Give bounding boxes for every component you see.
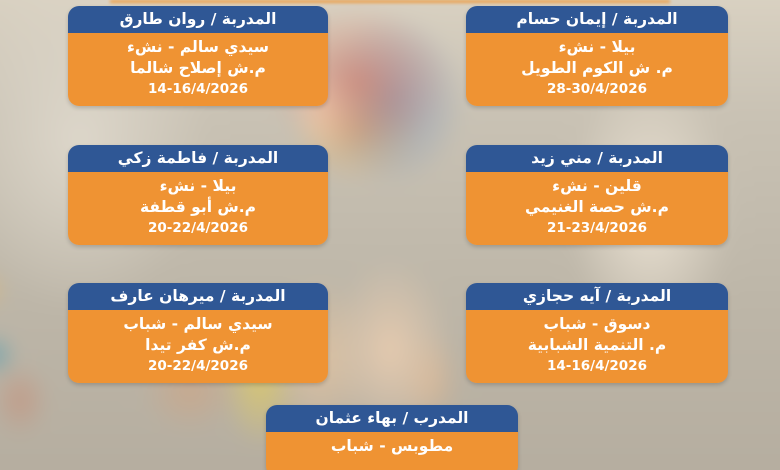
session-date: 28-30/4/2026 (472, 79, 722, 99)
session-venue: م.ش إصلاح شالما (74, 58, 322, 79)
trainer-name-header: المدرب / بهاء عثمان (266, 405, 518, 432)
trainer-name-header: المدربة / مني زيد (466, 145, 728, 172)
trainer-card[interactable]: المدربة / روان طارق سيدي سالم - نشء م.ش … (68, 6, 328, 106)
session-location: سيدي سالم - نشء (74, 37, 322, 58)
trainer-card-body: قلين - نشء م.ش حصة الغنيمي 21-23/4/2026 (466, 172, 728, 245)
trainer-card[interactable]: المدربة / ميرهان عارف سيدي سالم - شباب م… (68, 283, 328, 383)
trainer-card[interactable]: المدربة / آيه حجازي دسوق - شباب م. التنم… (466, 283, 728, 383)
trainer-name-header: المدربة / إيمان حسام (466, 6, 728, 33)
trainer-name-header: المدربة / فاطمة زكي (68, 145, 328, 172)
session-location: سيدي سالم - شباب (74, 314, 322, 335)
trainer-name-header: المدربة / ميرهان عارف (68, 283, 328, 310)
session-date: 20-22/4/2026 (74, 218, 322, 238)
session-venue: م.ش حصة الغنيمي (472, 197, 722, 218)
top-divider-rule (110, 0, 670, 3)
session-venue: م. التنمية الشبابية (472, 335, 722, 356)
session-venue: م.ش أبو قطفة (74, 197, 322, 218)
session-location: مطوبس - شباب (272, 436, 512, 457)
session-location: بيلا - نشء (472, 37, 722, 58)
trainer-card[interactable]: المدرب / بهاء عثمان مطوبس - شباب (266, 405, 518, 470)
trainer-card-body: مطوبس - شباب (266, 432, 518, 470)
trainer-card[interactable]: المدربة / إيمان حسام بيلا - نشء م. ش الك… (466, 6, 728, 106)
session-venue: م. ش الكوم الطويل (472, 58, 722, 79)
trainer-card[interactable]: المدربة / فاطمة زكي بيلا - نشء م.ش أبو ق… (68, 145, 328, 245)
session-date: 14-16/4/2026 (472, 356, 722, 376)
poster-stage: المدربة / روان طارق سيدي سالم - نشء م.ش … (0, 0, 780, 470)
session-date: 21-23/4/2026 (472, 218, 722, 238)
trainer-card-body: بيلا - نشء م. ش الكوم الطويل 28-30/4/202… (466, 33, 728, 106)
session-date: 14-16/4/2026 (74, 79, 322, 99)
session-location: قلين - نشء (472, 176, 722, 197)
trainer-card-body: دسوق - شباب م. التنمية الشبابية 14-16/4/… (466, 310, 728, 383)
session-date: 20-22/4/2026 (74, 356, 322, 376)
session-venue: م.ش كفر تيدا (74, 335, 322, 356)
trainer-card-body: سيدي سالم - شباب م.ش كفر تيدا 20-22/4/20… (68, 310, 328, 383)
trainer-card-body: سيدي سالم - نشء م.ش إصلاح شالما 14-16/4/… (68, 33, 328, 106)
trainer-name-header: المدربة / آيه حجازي (466, 283, 728, 310)
trainer-card[interactable]: المدربة / مني زيد قلين - نشء م.ش حصة الغ… (466, 145, 728, 245)
trainer-name-header: المدربة / روان طارق (68, 6, 328, 33)
session-location: دسوق - شباب (472, 314, 722, 335)
session-location: بيلا - نشء (74, 176, 322, 197)
trainer-card-body: بيلا - نشء م.ش أبو قطفة 20-22/4/2026 (68, 172, 328, 245)
